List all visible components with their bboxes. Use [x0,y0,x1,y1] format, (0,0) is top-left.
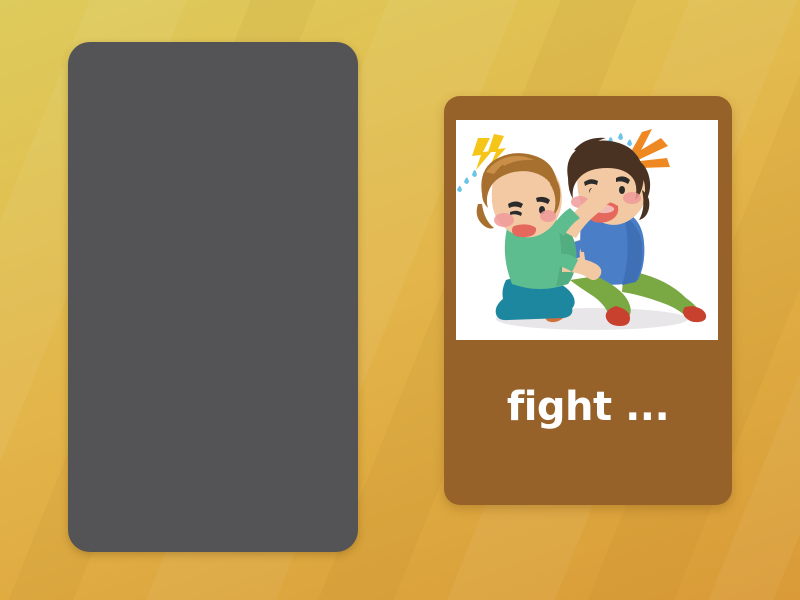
flashcard-fight[interactable]: fight ... [444,96,732,505]
two-boys-fighting-illustration [456,120,718,340]
card-word-label: fight ... [444,384,732,430]
flashcard-screen: fight ... [0,0,800,600]
card-image-frame [456,120,718,340]
blank-card-panel[interactable] [68,42,358,552]
